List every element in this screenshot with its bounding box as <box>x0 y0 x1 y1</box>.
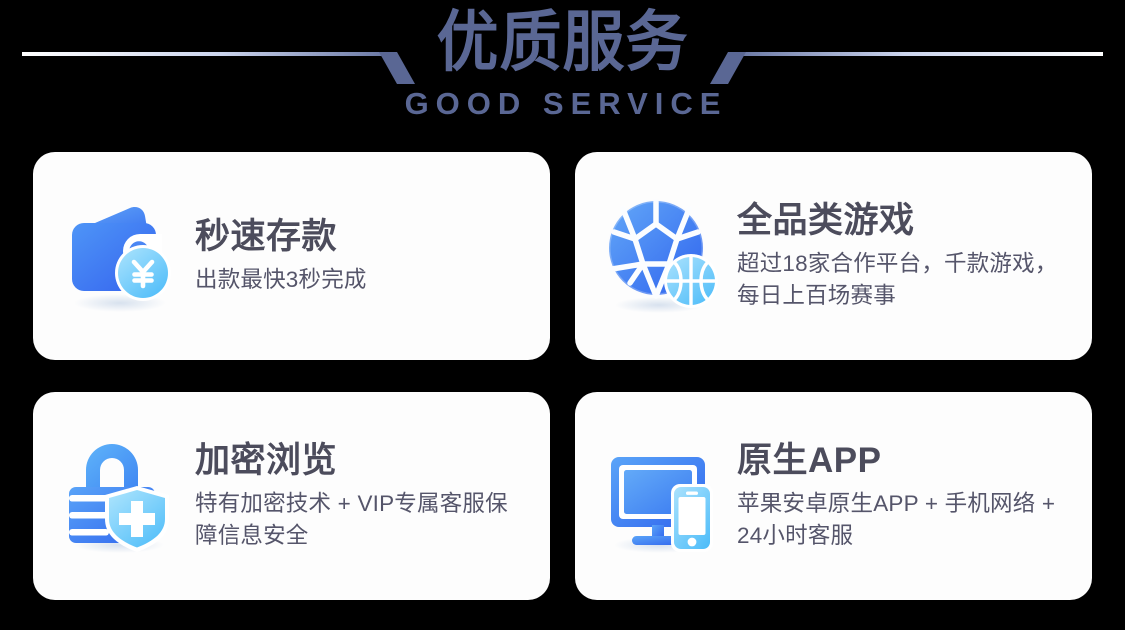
monitor-phone-icon <box>599 433 725 559</box>
wallet-yen-icon <box>57 193 183 319</box>
feature-card-text: 全品类游戏 超过18家合作平台，千款游戏，每日上百场赛事 <box>737 200 1070 311</box>
feature-card-subtitle: 超过18家合作平台，千款游戏，每日上百场赛事 <box>737 248 1070 312</box>
feature-card-games[interactable]: 全品类游戏 超过18家合作平台，千款游戏，每日上百场赛事 <box>575 152 1092 360</box>
feature-card-deposit[interactable]: 秒速存款 出款最快3秒完成 <box>33 152 550 360</box>
feature-card-title: 加密浏览 <box>195 440 528 481</box>
feature-card-subtitle: 特有加密技术 + VIP专属客服保障信息安全 <box>195 488 528 552</box>
header-title-block: 优质服务 GOOD SERVICE <box>0 6 1125 122</box>
feature-card-encryption[interactable]: 加密浏览 特有加密技术 + VIP专属客服保障信息安全 <box>33 392 550 600</box>
feature-card-text: 秒速存款 出款最快3秒完成 <box>195 216 528 295</box>
banner-header: 优质服务 GOOD SERVICE <box>0 0 1125 146</box>
feature-card-grid: 秒速存款 出款最快3秒完成 <box>33 152 1092 600</box>
feature-card-text: 原生APP 苹果安卓原生APP + 手机网络 + 24小时客服 <box>737 440 1070 551</box>
feature-card-title: 全品类游戏 <box>737 200 1070 241</box>
soccer-basketball-icon <box>599 193 725 319</box>
feature-card-subtitle: 苹果安卓原生APP + 手机网络 + 24小时客服 <box>737 488 1070 552</box>
page-subtitle: GOOD SERVICE <box>398 86 728 122</box>
promo-banner: 优质服务 GOOD SERVICE <box>0 0 1125 630</box>
feature-card-native-app[interactable]: 原生APP 苹果安卓原生APP + 手机网络 + 24小时客服 <box>575 392 1092 600</box>
padlock-shield-icon <box>57 433 183 559</box>
feature-card-subtitle: 出款最快3秒完成 <box>195 264 528 296</box>
page-title: 优质服务 <box>436 6 688 81</box>
feature-card-title: 原生APP <box>737 440 1070 481</box>
feature-card-title: 秒速存款 <box>195 216 528 257</box>
feature-card-text: 加密浏览 特有加密技术 + VIP专属客服保障信息安全 <box>195 440 528 551</box>
